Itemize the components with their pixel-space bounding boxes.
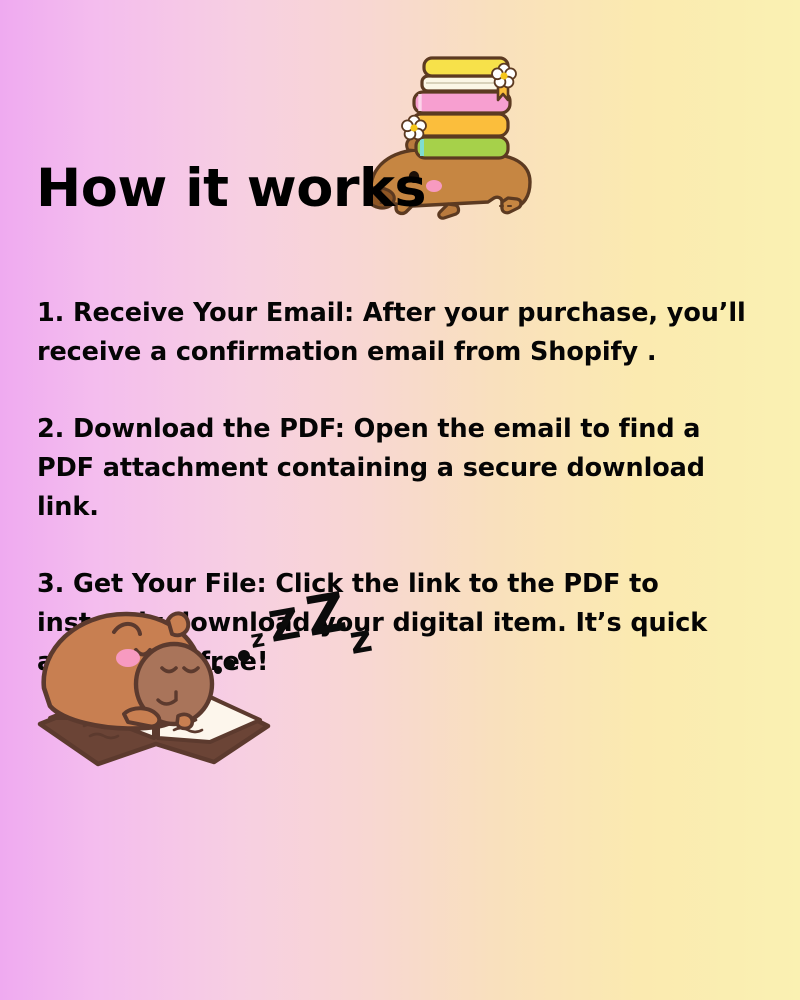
sleeping-capybara-body-group — [44, 613, 212, 728]
sleep-dots — [214, 650, 250, 674]
step-item-2: 2. Download the PDF: Open the email to f… — [37, 410, 759, 527]
step-item-1: 1. Receive Your Email: After your purcha… — [37, 294, 759, 372]
page-title: How it works — [36, 158, 426, 219]
svg-text:Z: Z — [301, 588, 351, 649]
capybara-cheek — [116, 649, 140, 667]
pink-book — [414, 92, 510, 113]
sleep-zzz-illustration: z Z Z z — [212, 588, 412, 687]
svg-text:z: z — [248, 624, 267, 654]
poster-canvas: How it works 1. Receive Your Email: Afte… — [0, 0, 800, 1000]
capybara-cheek — [426, 180, 442, 192]
svg-text:z: z — [346, 616, 375, 663]
sleep-z-glyphs: z Z Z z — [248, 588, 375, 663]
svg-text:Z: Z — [265, 598, 304, 652]
green-book — [416, 137, 508, 158]
